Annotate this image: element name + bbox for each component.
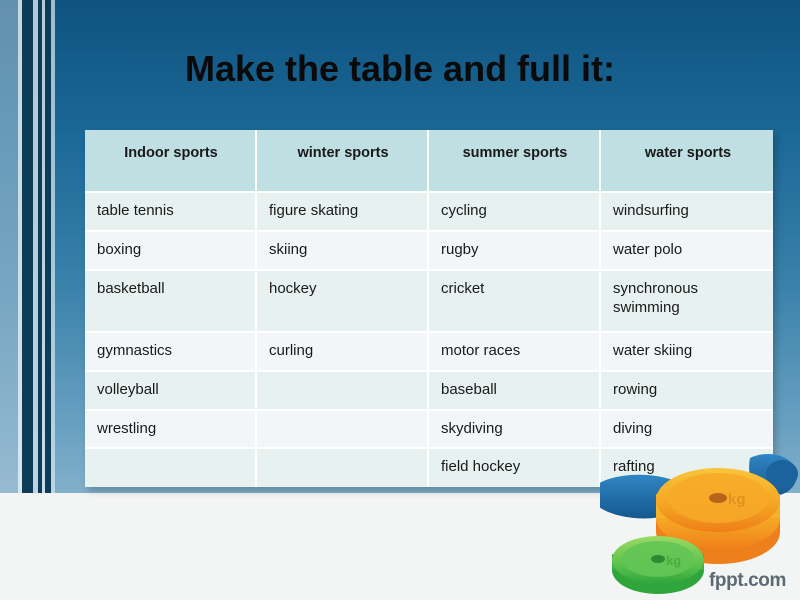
table-cell: figure skating xyxy=(257,193,429,232)
column-header-water: water sports xyxy=(601,130,773,193)
green-weight-plate: kg xyxy=(612,536,704,594)
table-row: table tennisfigure skatingcyclingwindsur… xyxy=(85,193,773,232)
table-cell: motor races xyxy=(429,333,601,372)
table-cell: synchronous swimming xyxy=(601,271,773,333)
table-cell: gymnastics xyxy=(85,333,257,372)
table-cell: cricket xyxy=(429,271,601,333)
table-cell: hockey xyxy=(257,271,429,333)
table-head: Indoor sports winter sports summer sport… xyxy=(85,130,773,193)
table-row: gymnasticscurlingmotor raceswater skiing xyxy=(85,333,773,372)
table-row: volleyballbaseballrowing xyxy=(85,372,773,411)
table-cell xyxy=(257,411,429,450)
table-cell: windsurfing xyxy=(601,193,773,232)
table-cell: baseball xyxy=(429,372,601,411)
table-cell: curling xyxy=(257,333,429,372)
table-cell xyxy=(257,372,429,411)
table-header-row: Indoor sports winter sports summer sport… xyxy=(85,130,773,193)
table-cell: table tennis xyxy=(85,193,257,232)
table-cell: field hockey xyxy=(429,449,601,487)
table-cell xyxy=(85,449,257,487)
table-cell: boxing xyxy=(85,232,257,271)
watermark-fppt: fppt.com xyxy=(709,570,786,592)
column-header-indoor: Indoor sports xyxy=(85,130,257,193)
table-cell: basketball xyxy=(85,271,257,333)
table-cell: skiing xyxy=(257,232,429,271)
table-cell: rowing xyxy=(601,372,773,411)
svg-text:kg: kg xyxy=(728,491,746,508)
sports-table: Indoor sports winter sports summer sport… xyxy=(85,130,773,487)
sports-table-container: Indoor sports winter sports summer sport… xyxy=(85,130,773,487)
table-cell: skydiving xyxy=(429,411,601,450)
table-row: boxingskiingrugbywater polo xyxy=(85,232,773,271)
column-header-winter: winter sports xyxy=(257,130,429,193)
table-cell: rugby xyxy=(429,232,601,271)
column-header-summer: summer sports xyxy=(429,130,601,193)
table-row: basketballhockeycricketsynchronous swimm… xyxy=(85,271,773,333)
svg-text:kg: kg xyxy=(666,553,681,568)
table-cell: wrestling xyxy=(85,411,257,450)
table-cell: volleyball xyxy=(85,372,257,411)
table-cell: water polo xyxy=(601,232,773,271)
page-title: Make the table and full it: xyxy=(0,48,800,90)
table-cell: water skiing xyxy=(601,333,773,372)
slide-canvas: Make the table and full it: Indoor sport… xyxy=(0,0,800,600)
table-cell xyxy=(257,449,429,487)
table-cell: cycling xyxy=(429,193,601,232)
